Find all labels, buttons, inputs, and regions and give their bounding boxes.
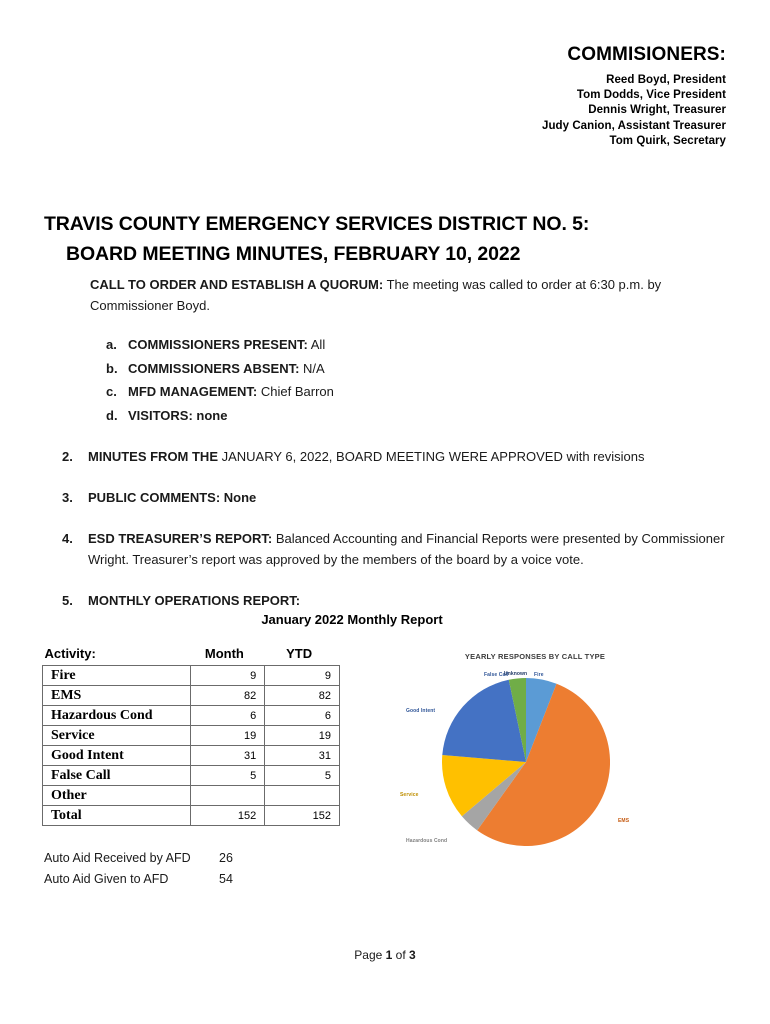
list-marker: a. (106, 334, 128, 355)
cell-activity: Fire (43, 666, 191, 686)
chart-title: YEARLY RESPONSES BY CALL TYPE (400, 652, 670, 661)
list-item: 5. MONTHLY OPERATIONS REPORT: (62, 590, 734, 611)
item-text: JANUARY 6, 2022, BOARD MEETING WERE APPR… (218, 449, 644, 464)
auto-aid-row: Auto Aid Given to AFD 54 (44, 869, 259, 890)
table-body: Fire 9 9 EMS 82 82 Hazardous Cond 6 6 Se… (43, 666, 340, 826)
document-page: COMMISIONERS: Reed Boyd, President Tom D… (0, 0, 770, 1024)
auto-aid-value: 54 (219, 869, 259, 890)
pie-label-good-intent: Good Intent (406, 708, 435, 714)
cell-activity: False Call (43, 766, 191, 786)
cell-activity: Service (43, 726, 191, 746)
sublist-value: Chief Barron (257, 384, 334, 399)
auto-aid-label: Auto Aid Received by AFD (44, 848, 219, 869)
list-marker: b. (106, 358, 128, 379)
list-item: a. COMMISSIONERS PRESENT: All (106, 334, 734, 355)
doc-title-line-2: BOARD MEETING MINUTES, FEBRUARY 10, 2022 (44, 239, 704, 269)
cell-activity: Good Intent (43, 746, 191, 766)
list-item: 2. MINUTES FROM THE JANUARY 6, 2022, BOA… (62, 446, 734, 467)
table-row: EMS 82 82 (43, 686, 340, 706)
pie-chart-graphic (442, 678, 610, 846)
list-item: 4. ESD TREASURER’S REPORT: Balanced Acco… (62, 528, 734, 570)
commissioner-name: Dennis Wright, Treasurer (542, 103, 726, 118)
table-header: Activity: Month YTD (43, 646, 340, 666)
pie-label-unknown: Unknown (504, 671, 527, 677)
item-label: MINUTES FROM THE (88, 449, 218, 464)
footer-prefix: Page (354, 948, 385, 962)
auto-aid-block: Auto Aid Received by AFD 26 Auto Aid Giv… (44, 848, 259, 889)
call-to-order-paragraph: CALL TO ORDER AND ESTABLISH A QUORUM: Th… (44, 274, 684, 316)
cell-month: 19 (190, 726, 265, 746)
cell-activity: Total (43, 806, 191, 826)
activity-table: Activity: Month YTD Fire 9 9 EMS 82 82 H… (42, 646, 340, 826)
call-to-order-label: CALL TO ORDER AND ESTABLISH A QUORUM: (90, 277, 383, 292)
cell-ytd: 82 (265, 686, 340, 706)
table-row: Total 152 152 (43, 806, 340, 826)
commissioner-name: Tom Dodds, Vice President (542, 88, 726, 103)
auto-aid-row: Auto Aid Received by AFD 26 (44, 848, 259, 869)
table-row: Fire 9 9 (43, 666, 340, 686)
commissioners-heading: COMMISIONERS: (542, 42, 726, 67)
cell-ytd: 5 (265, 766, 340, 786)
page-title: TRAVIS COUNTY EMERGENCY SERVICES DISTRIC… (44, 209, 704, 269)
commissioner-name: Judy Canion, Assistant Treasurer (542, 119, 726, 134)
item-label: MONTHLY OPERATIONS REPORT: (88, 593, 300, 608)
item-label: ESD TREASURER’S REPORT: (88, 531, 272, 546)
commissioner-name: Tom Quirk, Secretary (542, 134, 726, 149)
list-number: 5. (62, 590, 88, 611)
cell-month: 152 (190, 806, 265, 826)
table-header-row: Activity: Month YTD (43, 646, 340, 666)
list-item: b. COMMISSIONERS ABSENT: N/A (106, 358, 734, 379)
sublist-label: MFD MANAGEMENT: (128, 384, 257, 399)
cell-ytd (265, 786, 340, 806)
list-item: 3. PUBLIC COMMENTS: None (62, 487, 734, 508)
cell-ytd: 31 (265, 746, 340, 766)
table-row: Other (43, 786, 340, 806)
table-row: Hazardous Cond 6 6 (43, 706, 340, 726)
pie-label-fire: Fire (534, 672, 544, 678)
cell-month: 5 (190, 766, 265, 786)
pie-label-ems: EMS (618, 818, 629, 824)
sublist-value: All (308, 337, 325, 352)
yearly-responses-pie-chart: YEARLY RESPONSES BY CALL TYPE False Call… (400, 646, 710, 866)
footer-total-pages: 3 (409, 948, 416, 962)
list-item: c. MFD MANAGEMENT: Chief Barron (106, 381, 734, 402)
list-number: 4. (62, 528, 88, 549)
sublist-label: COMMISSIONERS PRESENT: (128, 337, 308, 352)
cell-ytd: 6 (265, 706, 340, 726)
list-marker: c. (106, 381, 128, 402)
item-label: PUBLIC COMMENTS: None (88, 490, 256, 505)
activity-table-wrapper: Activity: Month YTD Fire 9 9 EMS 82 82 H… (42, 646, 342, 826)
page-footer: Page 1 of 3 (0, 948, 770, 962)
list-marker: d. (106, 405, 128, 426)
attendance-sublist: a. COMMISSIONERS PRESENT: All b. COMMISS… (44, 334, 734, 426)
column-header-month: Month (190, 646, 265, 666)
column-header-ytd: YTD (265, 646, 340, 666)
cell-activity: Hazardous Cond (43, 706, 191, 726)
commissioner-name: Reed Boyd, President (542, 73, 726, 88)
cell-activity: EMS (43, 686, 191, 706)
sublist-value: N/A (299, 361, 324, 376)
auto-aid-label: Auto Aid Given to AFD (44, 869, 219, 890)
minutes-body: CALL TO ORDER AND ESTABLISH A QUORUM: Th… (44, 274, 734, 631)
cell-month: 82 (190, 686, 265, 706)
cell-month: 9 (190, 666, 265, 686)
doc-title-line-1: TRAVIS COUNTY EMERGENCY SERVICES DISTRIC… (44, 213, 589, 235)
auto-aid-value: 26 (219, 848, 259, 869)
monthly-report-heading: January 2022 Monthly Report (0, 612, 770, 627)
cell-month: 6 (190, 706, 265, 726)
footer-middle: of (392, 948, 409, 962)
cell-ytd: 19 (265, 726, 340, 746)
list-number: 2. (62, 446, 88, 467)
list-item: d. VISITORS: none (106, 405, 734, 426)
table-row: Service 19 19 (43, 726, 340, 746)
cell-ytd: 9 (265, 666, 340, 686)
pie-label-hazardous-cond: Hazardous Cond (406, 838, 447, 844)
cell-month (190, 786, 265, 806)
sublist-value: none (193, 408, 228, 423)
cell-ytd: 152 (265, 806, 340, 826)
column-header-activity: Activity: (43, 646, 191, 666)
table-row: Good Intent 31 31 (43, 746, 340, 766)
table-row: False Call 5 5 (43, 766, 340, 786)
cell-activity: Other (43, 786, 191, 806)
list-number: 3. (62, 487, 88, 508)
numbered-items-list: 2. MINUTES FROM THE JANUARY 6, 2022, BOA… (44, 446, 734, 611)
cell-month: 31 (190, 746, 265, 766)
sublist-label: COMMISSIONERS ABSENT: (128, 361, 299, 376)
sublist-label: VISITORS: (128, 408, 193, 423)
pie-label-service: Service (400, 792, 419, 798)
commissioners-header: COMMISIONERS: Reed Boyd, President Tom D… (542, 42, 726, 149)
